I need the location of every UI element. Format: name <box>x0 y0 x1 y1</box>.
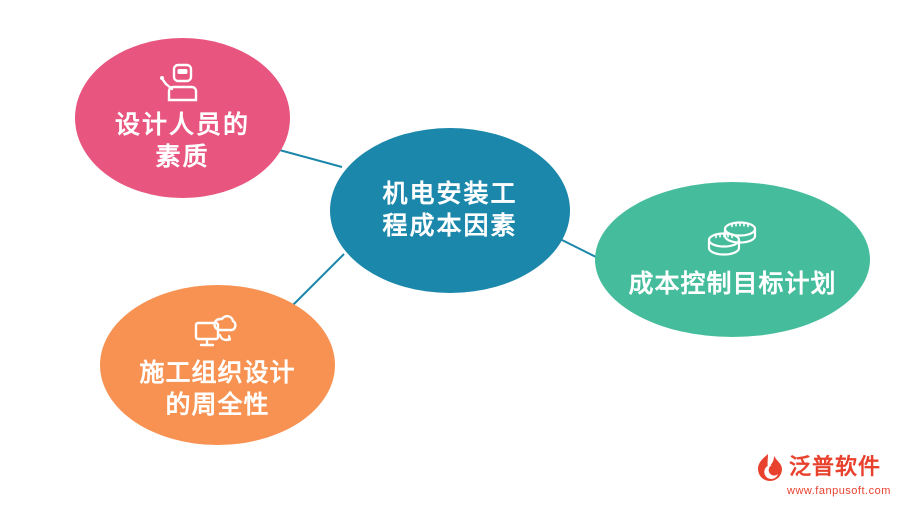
node-construction-org[interactable]: 施工组织设计 的周全性 <box>100 285 335 445</box>
node-design-quality-label: 设计人员的 素质 <box>115 110 250 173</box>
brand-url: www.fanpusoft.com <box>787 485 891 497</box>
node-construction-org-label: 施工组织设计 的周全性 <box>139 358 295 421</box>
diagram-canvas: 机电安装工 程成本因素 设计人员的 素质 <box>0 0 900 509</box>
node-cost-control-label: 成本控制目标计划 <box>628 269 836 300</box>
coin-stack-icon <box>702 218 764 267</box>
connector-center-to-construction-org <box>292 254 344 306</box>
brand-logo[interactable]: 泛普软件 www.fanpusoft.com <box>755 452 887 502</box>
brand-logo-row: 泛普软件 <box>755 452 881 482</box>
node-cost-control[interactable]: 成本控制目标计划 <box>595 182 870 337</box>
node-design-quality[interactable]: 设计人员的 素质 <box>75 38 290 198</box>
connector-center-to-design-quality <box>272 148 342 167</box>
node-center[interactable]: 机电安装工 程成本因素 <box>330 128 570 293</box>
cloud-monitor-icon <box>192 309 244 356</box>
brand-name: 泛普软件 <box>789 456 881 478</box>
fanpu-flame-icon <box>755 452 785 482</box>
node-center-label: 机电安装工 程成本因素 <box>382 179 517 242</box>
engineer-worker-icon <box>160 63 206 108</box>
